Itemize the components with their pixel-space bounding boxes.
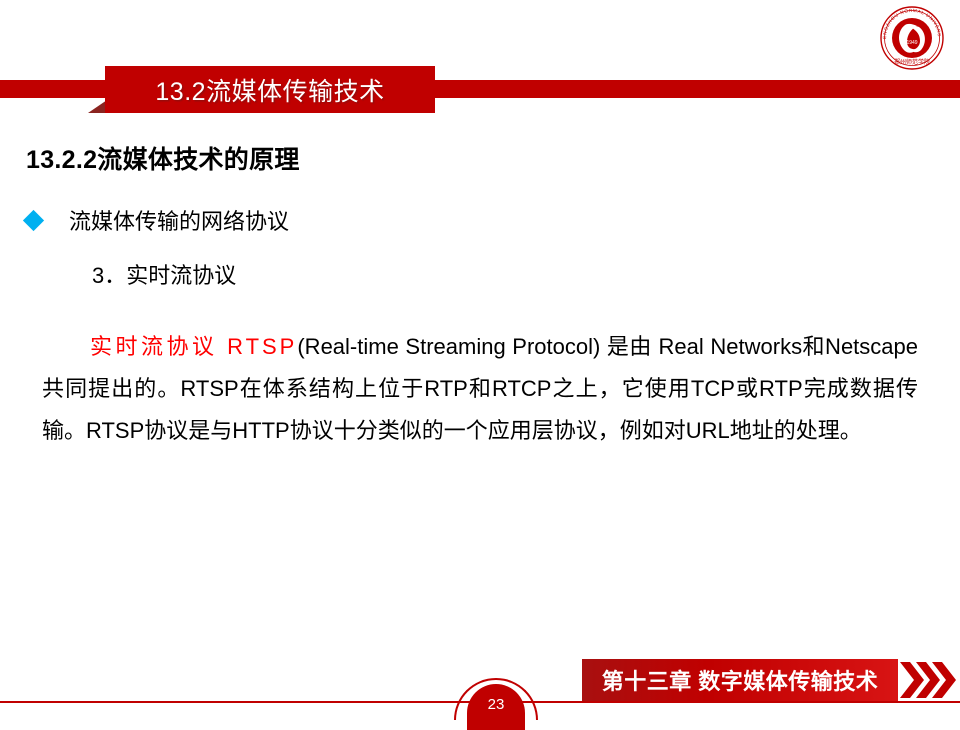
paragraph-highlight: 实时流协议 RTSP (90, 334, 297, 359)
university-logo: ZHENGZHOU NORMAL UNIVERSITY 1949 郑州师范学院 (878, 4, 946, 72)
slide-canvas: ZHENGZHOU NORMAL UNIVERSITY 1949 郑州师范学院 … (0, 0, 960, 720)
sub-item-label: 3．实时流协议 (92, 258, 236, 290)
section-heading: 13.2.2流媒体技术的原理 (26, 140, 300, 176)
header-title-box: 13.2流媒体传输技术 (105, 66, 435, 113)
chevron-arrows-icon (898, 660, 956, 700)
svg-text:郑州师范学院: 郑州师范学院 (894, 58, 930, 66)
diamond-bullet-icon (23, 209, 44, 230)
bullet-list-item: 流媒体传输的网络协议 (26, 204, 289, 236)
bullet-item-label: 流媒体传输的网络协议 (69, 204, 289, 236)
footer-chapter-title: 第十三章 数字媒体传输技术 (602, 664, 879, 696)
header-title: 13.2流媒体传输技术 (155, 72, 384, 108)
body-paragraph: 实时流协议 RTSP(Real-time Streaming Protocol)… (42, 326, 918, 452)
svg-text:1949: 1949 (906, 40, 917, 46)
footer-chapter-banner: 第十三章 数字媒体传输技术 (582, 659, 898, 701)
page-number-badge: 23 (454, 664, 538, 720)
page-number: 23 (488, 697, 505, 718)
